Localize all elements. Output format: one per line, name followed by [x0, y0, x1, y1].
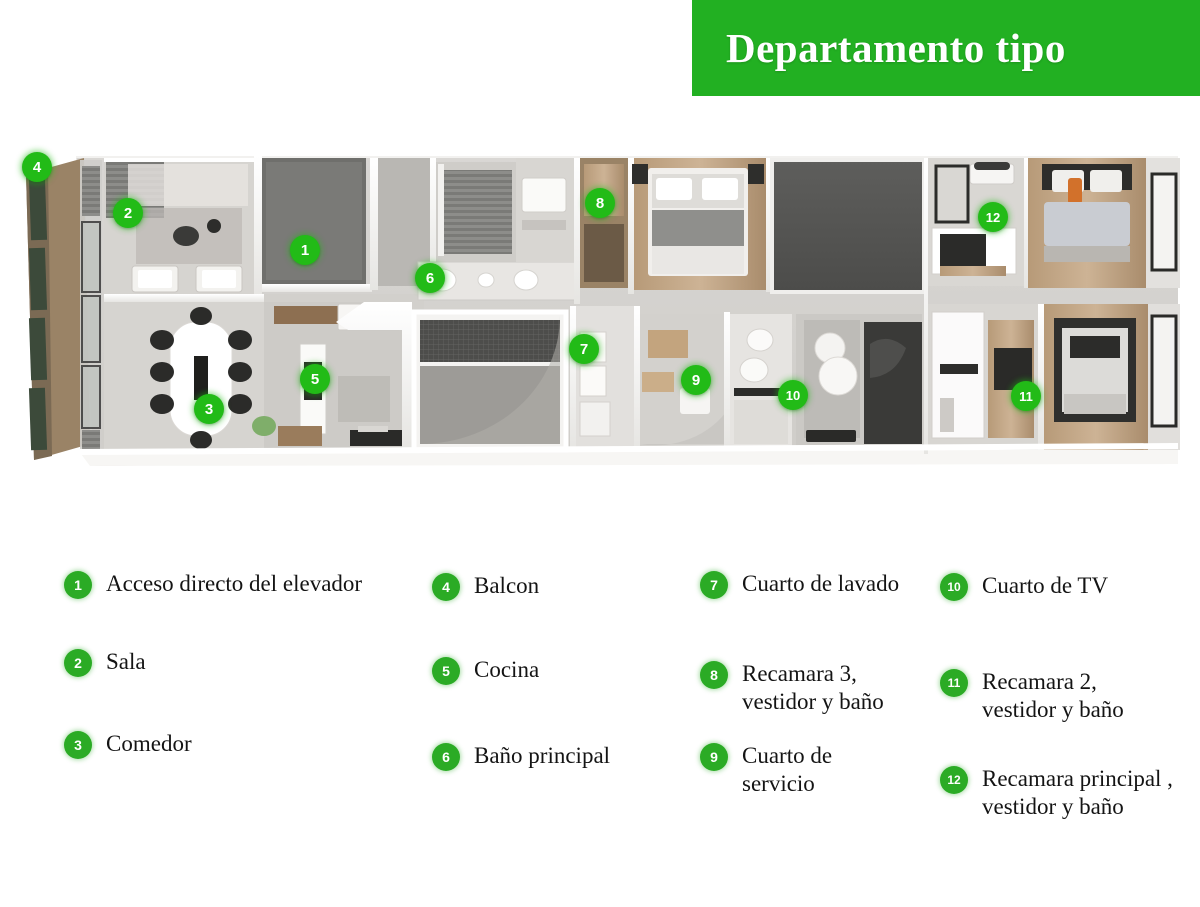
legend-item[interactable]: 4Balcon [432, 572, 539, 601]
plan-marker-comedor[interactable]: 3 [194, 394, 224, 424]
legend-label: Recamara 3, vestidor y baño [742, 660, 884, 716]
plan-marker-recamara-2[interactable]: 11 [1011, 381, 1041, 411]
legend-label: Cuarto de TV [982, 572, 1108, 600]
legend-label: Cocina [474, 656, 539, 684]
plan-marker-balcon[interactable]: 4 [22, 152, 52, 182]
legend-item[interactable]: 9Cuarto de servicio [700, 742, 832, 798]
legend-item[interactable]: 10Cuarto de TV [940, 572, 1108, 601]
legend-label: Recamara 2, vestidor y baño [982, 668, 1124, 724]
legend-item[interactable]: 6Baño principal [432, 742, 610, 771]
legend-badge-12: 12 [940, 766, 968, 794]
legend-badge-1: 1 [64, 571, 92, 599]
legend-badge-3: 3 [64, 731, 92, 759]
legend-badge-2: 2 [64, 649, 92, 677]
legend-label: Baño principal [474, 742, 610, 770]
plan-marker-sala[interactable]: 2 [113, 198, 143, 228]
legend-item[interactable]: 2 Sala [64, 648, 146, 677]
plan-marker-cuarto-de-servicio[interactable]: 9 [681, 365, 711, 395]
legend-label: Sala [106, 648, 146, 676]
plan-marker-cuarto-de-lavado[interactable]: 7 [569, 334, 599, 364]
legend-item[interactable]: 7Cuarto de lavado [700, 570, 899, 599]
plan-marker-recamara-3[interactable]: 8 [585, 188, 615, 218]
legend-badge-6: 6 [432, 743, 460, 771]
legend-badge-9: 9 [700, 743, 728, 771]
legend-label: Balcon [474, 572, 539, 600]
plan-marker-bano-principal[interactable]: 6 [415, 263, 445, 293]
legend-badge-4: 4 [432, 573, 460, 601]
legend-item[interactable]: 5Cocina [432, 656, 539, 685]
plan-marker-cocina[interactable]: 5 [300, 364, 330, 394]
legend-item[interactable]: 11Recamara 2, vestidor y baño [940, 668, 1124, 724]
legend-badge-7: 7 [700, 571, 728, 599]
plan-marker-recamara-principal[interactable]: 12 [978, 202, 1008, 232]
legend-item[interactable]: 3Comedor [64, 730, 192, 759]
legend-badge-10: 10 [940, 573, 968, 601]
title-banner: Departamento tipo [692, 0, 1200, 96]
legend-item[interactable]: 12Recamara principal , vestidor y baño [940, 765, 1173, 821]
legend-badge-11: 11 [940, 669, 968, 697]
legend-badge-5: 5 [432, 657, 460, 685]
floorplan: 123456789101112 [18, 144, 1180, 472]
legend-label: Cuarto de servicio [742, 742, 832, 798]
legend-label: Comedor [106, 730, 192, 758]
legend-label: Cuarto de lavado [742, 570, 899, 598]
legend-label: Acceso directo del elevador [106, 570, 362, 598]
page-title: Departamento tipo [726, 24, 1066, 72]
legend: 1Acceso directo del elevador2 Sala3Comed… [0, 556, 1200, 846]
legend-item[interactable]: 1Acceso directo del elevador [64, 570, 362, 599]
legend-badge-8: 8 [700, 661, 728, 689]
legend-item[interactable]: 8Recamara 3, vestidor y baño [700, 660, 884, 716]
plan-marker-acceso-directo-del-elevador[interactable]: 1 [290, 235, 320, 265]
legend-label: Recamara principal , vestidor y baño [982, 765, 1173, 821]
plan-marker-cuarto-de-tv[interactable]: 10 [778, 380, 808, 410]
